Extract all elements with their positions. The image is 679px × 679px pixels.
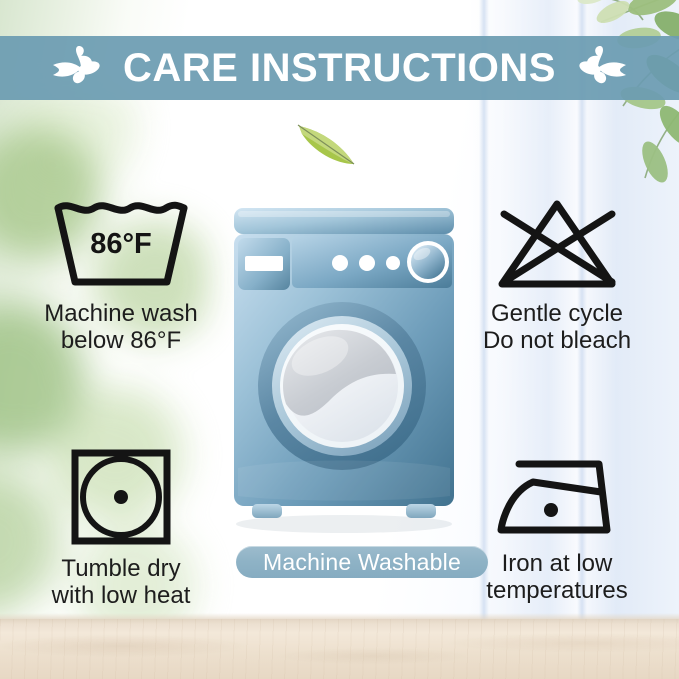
tumble-dry-square-icon <box>68 447 174 547</box>
indicator-dot <box>386 256 400 270</box>
fleur-de-lis-ornament-right-icon <box>578 45 632 91</box>
wood-grain-texture <box>0 619 679 679</box>
care-symbol-machine-wash: 86°F Machine wash below 86°F <box>16 196 226 355</box>
care-symbol-do-not-bleach: Gentle cycle Do not bleach <box>452 196 662 355</box>
machine-foot-right <box>406 504 436 518</box>
iron-icon <box>489 452 625 542</box>
washing-machine-illustration <box>228 206 460 536</box>
machine-washable-badge-text: Machine Washable <box>263 551 461 574</box>
wash-temperature-text: 86°F <box>90 228 152 260</box>
care-symbol-iron: Iron at low temperatures <box>452 452 662 605</box>
care-label-do-not-bleach: Gentle cycle Do not bleach <box>483 300 631 355</box>
care-label-iron: Iron at low temperatures <box>486 550 627 605</box>
indicator-dot <box>359 255 375 271</box>
care-symbol-tumble-dry: Tumble dry with low heat <box>16 447 226 610</box>
machine-foot-left <box>252 504 282 518</box>
wash-tub-icon: 86°F <box>48 196 194 292</box>
detergent-drawer-slot <box>245 256 283 271</box>
care-label-tumble-dry: Tumble dry with low heat <box>52 555 191 610</box>
fleur-de-lis-ornament-left-icon <box>47 45 101 91</box>
page-title: CARE INSTRUCTIONS <box>123 48 556 88</box>
header-banner: CARE INSTRUCTIONS <box>0 36 679 100</box>
indicator-dot <box>332 255 348 271</box>
care-label-machine-wash: Machine wash below 86°F <box>44 300 197 355</box>
triangle-crossed-out-icon <box>484 196 630 292</box>
machine-washable-badge: Machine Washable <box>236 546 488 578</box>
care-instructions-infographic: CARE INSTRUCTIONS 86°F Machine wash belo… <box>0 0 679 679</box>
floating-leaf-icon <box>296 120 360 168</box>
